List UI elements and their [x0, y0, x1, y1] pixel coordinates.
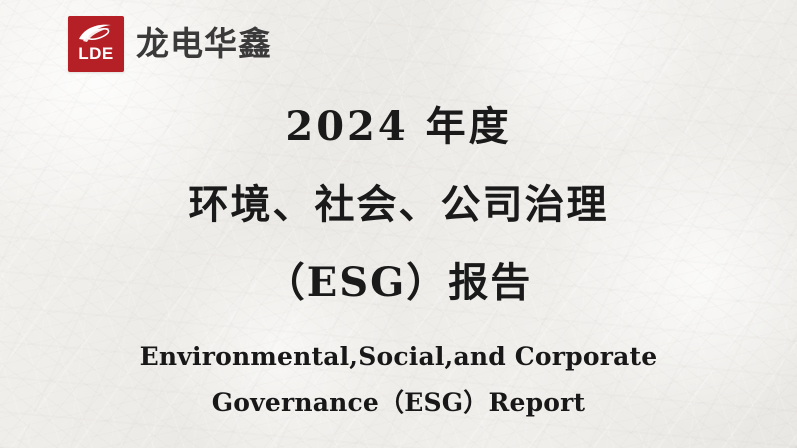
brand-logo: LDE 龙电华鑫 — [68, 16, 272, 72]
english-title-line-1: Environmental,Social,and Corporate — [0, 334, 797, 380]
report-cover-page: LDE 龙电华鑫 2024 年度 环境、社会、公司治理 （ESG）报告 Envi… — [0, 0, 797, 448]
title-line-esg-report: （ESG）报告 — [0, 244, 797, 322]
swoosh-icon — [76, 22, 116, 44]
company-logo-mark: LDE — [68, 16, 124, 72]
cover-title-block: 2024 年度 环境、社会、公司治理 （ESG）报告 Environmental… — [0, 88, 797, 426]
title-line-year: 2024 年度 — [0, 88, 797, 166]
title-line-subject: 环境、社会、公司治理 — [0, 166, 797, 244]
english-title-line-2: Governance（ESG）Report — [0, 380, 797, 426]
english-title-block: Environmental,Social,and Corporate Gover… — [0, 334, 797, 426]
logo-mark-label: LDE — [78, 45, 114, 62]
company-name: 龙电华鑫 — [136, 26, 272, 62]
